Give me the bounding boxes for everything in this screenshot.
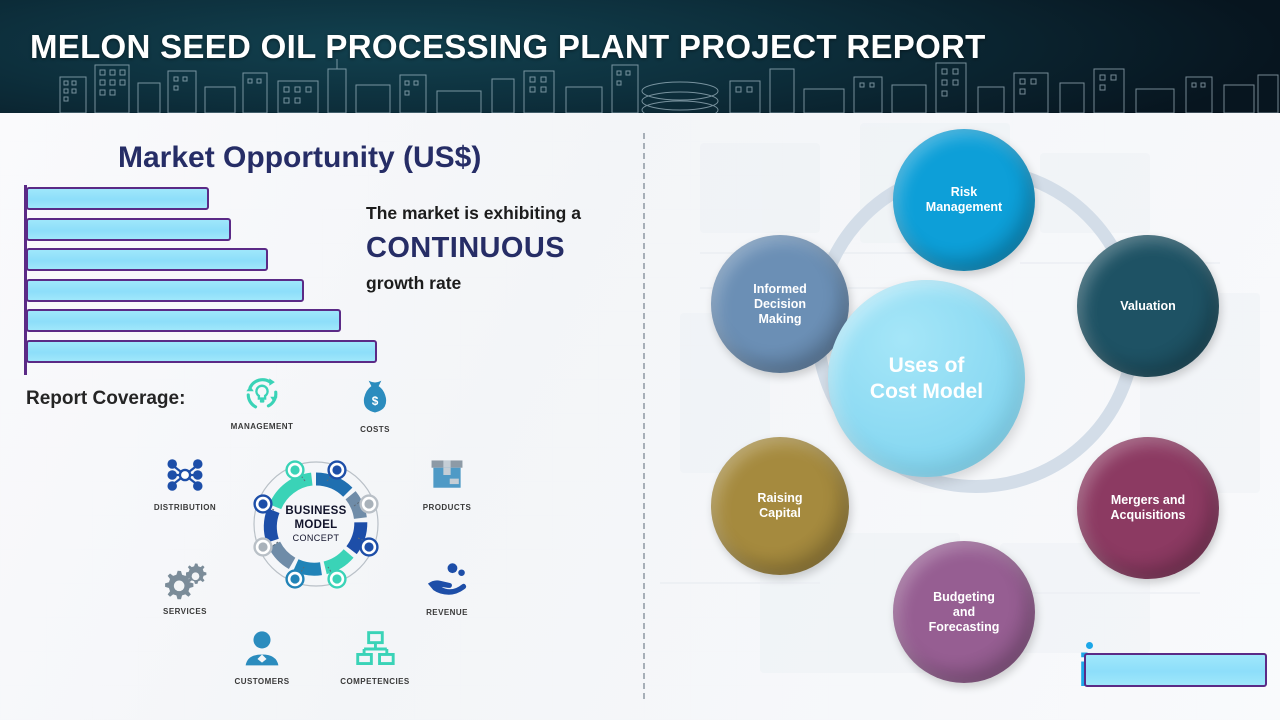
node-risk-management[interactable]: RiskManagement: [893, 129, 1035, 271]
coverage-item-label: MANAGEMENT: [214, 422, 310, 431]
bar-row: [26, 218, 231, 241]
coverage-item-revenue: REVENUE: [399, 556, 495, 617]
svg-text:$: $: [372, 394, 379, 408]
coverage-item-label: SERVICES: [137, 607, 233, 616]
center-node-line-2: Cost Model: [870, 379, 983, 404]
slide-root: MELON SEED OIL PROCESSING PLANT PROJECT …: [0, 0, 1280, 720]
report-coverage-label: Report Coverage:: [26, 388, 185, 410]
management-cycle-icon: [214, 370, 310, 418]
bar-row: [26, 187, 209, 210]
money-bag-icon: $: [327, 373, 423, 421]
center-node-uses-of-cost-model: Uses of Cost Model: [828, 280, 1025, 477]
org-chart-icon: [327, 625, 423, 673]
user-person-icon: [214, 625, 310, 673]
header-banner: MELON SEED OIL PROCESSING PLANT PROJECT …: [0, 0, 1280, 113]
network-nodes-icon: [137, 451, 233, 499]
coverage-item-competencies: COMPETENCIES: [327, 625, 423, 686]
logo-divider: [1084, 653, 1267, 687]
bar-row: [26, 248, 268, 271]
business-model-wheel: BUSINESS MODEL CONCEPT: [240, 448, 392, 600]
node-valuation[interactable]: Valuation: [1077, 235, 1219, 377]
coverage-item-products: PRODUCTS: [399, 451, 495, 512]
bar-row: [26, 309, 341, 332]
node-label: Valuation: [1114, 299, 1182, 314]
page-title: MELON SEED OIL PROCESSING PLANT PROJECT …: [30, 28, 986, 66]
right-panel: RiskManagementValuationMergers andAcquis…: [643, 113, 1280, 720]
node-label: InformedDecisionMaking: [747, 282, 812, 327]
coverage-item-label: CUSTOMERS: [214, 677, 310, 686]
bar-row: [26, 340, 377, 363]
node-label: BudgetingandForecasting: [923, 590, 1006, 635]
coverage-item-management: MANAGEMENT: [214, 370, 310, 431]
imarc-logo: imarc IMPACTFUL INSIGHTS: [1078, 651, 1254, 690]
node-mergers-acquisitions[interactable]: Mergers andAcquisitions: [1077, 437, 1219, 579]
callout-emphasis: CONTINUOUS: [366, 232, 636, 265]
market-opportunity-title: Market Opportunity (US$): [118, 141, 481, 175]
coverage-item-label: COSTS: [327, 425, 423, 434]
left-panel: Market Opportunity (US$) The market is e…: [0, 113, 643, 720]
node-raising-capital[interactable]: RaisingCapital: [711, 437, 849, 575]
callout-line-1: The market is exhibiting a: [366, 203, 636, 225]
node-label: Mergers andAcquisitions: [1104, 493, 1191, 523]
coverage-item-label: REVENUE: [399, 608, 495, 617]
node-informed-decision[interactable]: InformedDecisionMaking: [711, 235, 849, 373]
coverage-item-distribution: DISTRIBUTION: [137, 451, 233, 512]
node-label: RaisingCapital: [751, 491, 808, 521]
hand-coins-icon: [399, 556, 495, 604]
market-opportunity-bar-chart: [24, 185, 404, 375]
bar-row: [26, 279, 304, 302]
growth-callout: The market is exhibiting a CONTINUOUS gr…: [366, 203, 636, 294]
coverage-item-label: COMPETENCIES: [327, 677, 423, 686]
center-node-line-1: Uses of: [870, 353, 983, 378]
coverage-item-services: SERVICES: [137, 555, 233, 616]
coverage-item-label: PRODUCTS: [399, 503, 495, 512]
imarc-dot-icon: [1086, 642, 1093, 649]
node-budgeting-forecasting[interactable]: BudgetingandForecasting: [893, 541, 1035, 683]
gears-icon: [137, 555, 233, 603]
coverage-item-customers: CUSTOMERS: [214, 625, 310, 686]
open-box-icon: [399, 451, 495, 499]
coverage-item-label: DISTRIBUTION: [137, 503, 233, 512]
callout-line-3: growth rate: [366, 273, 636, 294]
coverage-item-costs: $ COSTS: [327, 373, 423, 434]
node-label: RiskManagement: [920, 185, 1008, 215]
